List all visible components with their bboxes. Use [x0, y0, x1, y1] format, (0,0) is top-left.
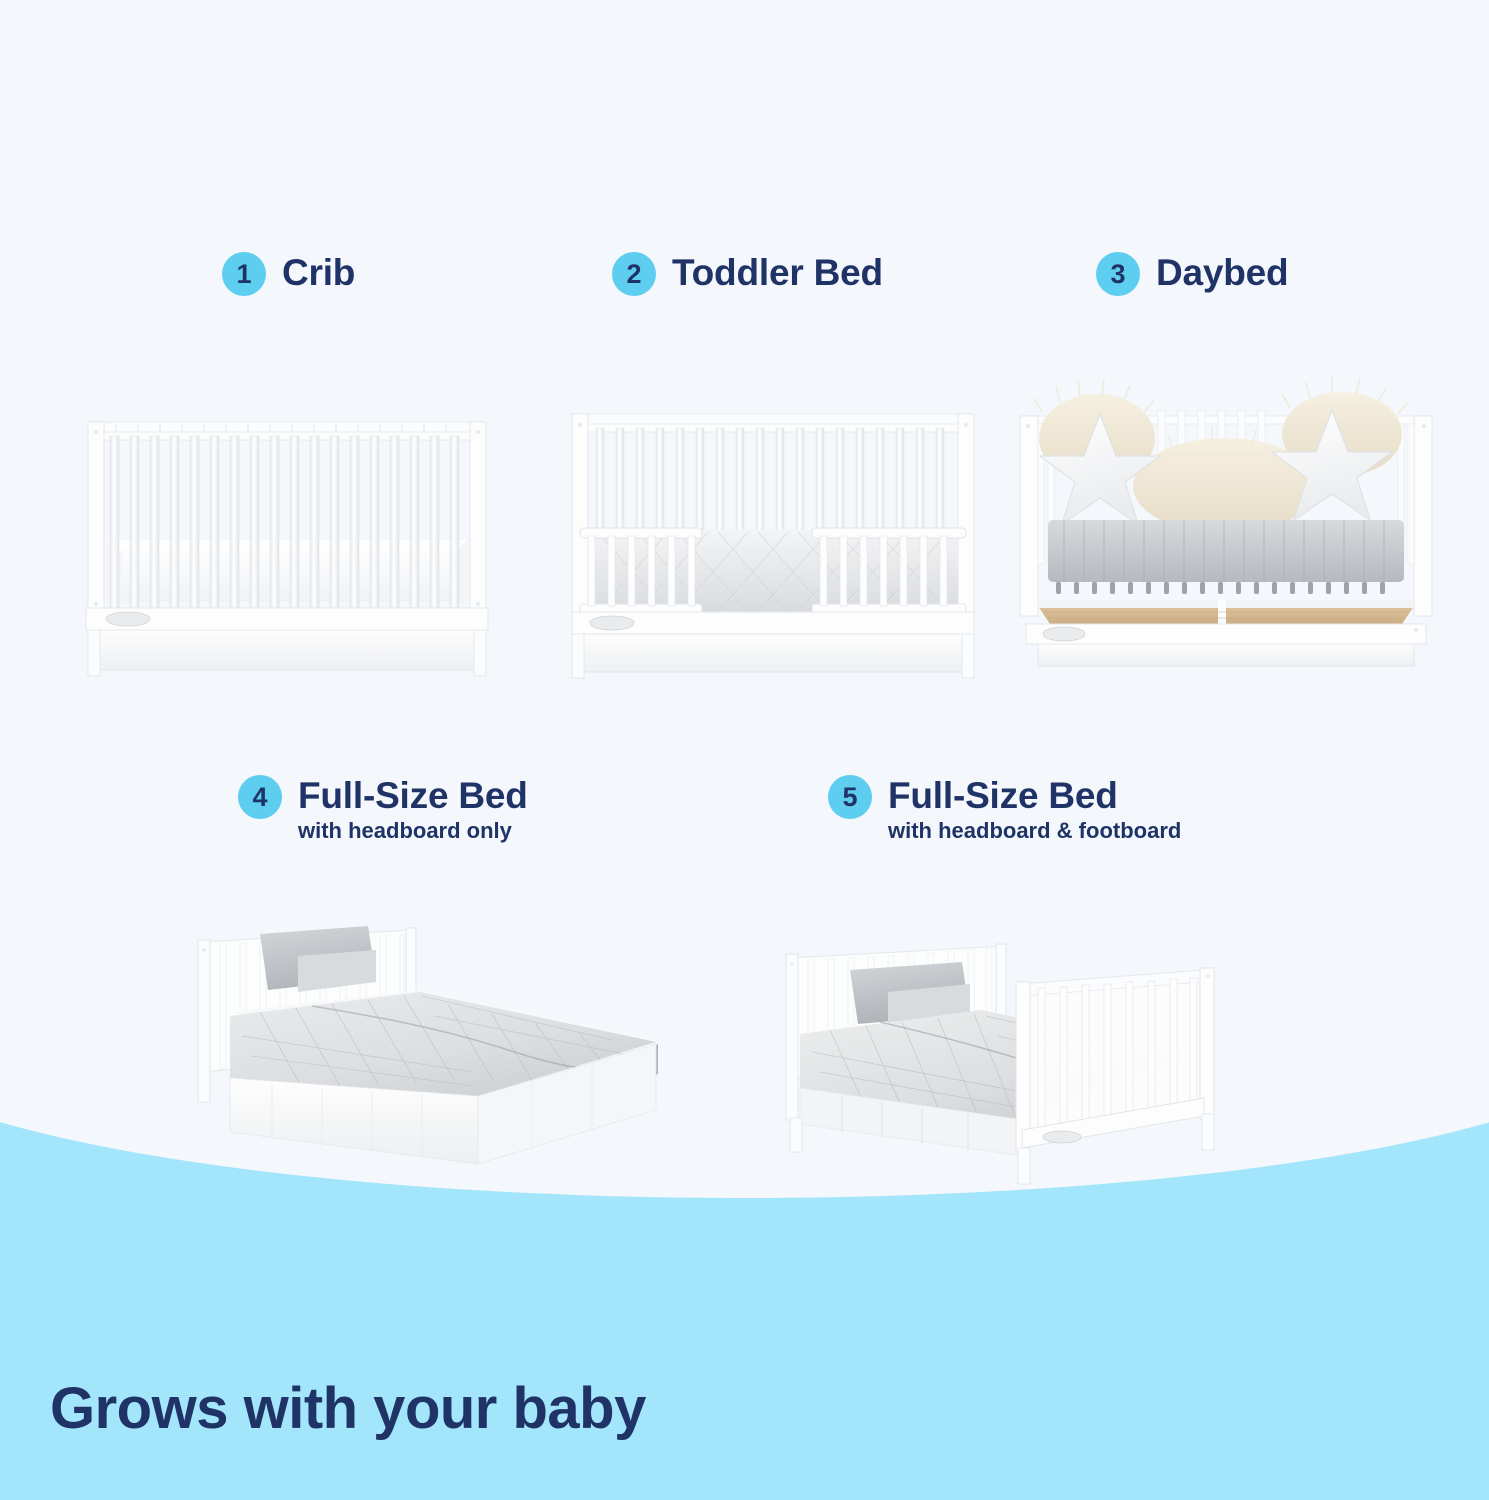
step-title-1: Crib [282, 253, 355, 292]
step-title-3: Daybed [1156, 253, 1288, 292]
step-text-1: Crib [282, 252, 355, 292]
daybed-illustration [1012, 368, 1440, 668]
step-badge-2: 2 [612, 252, 656, 296]
full-size-bed-headboard-only-illustration [172, 912, 692, 1202]
step-text-2: Toddler Bed [672, 252, 883, 292]
step-title-4: Full-Size Bed [298, 776, 528, 815]
step-label-5: 5 Full-Size Bed with headboard & footboa… [828, 775, 1181, 845]
step-label-2: 2 Toddler Bed [612, 252, 883, 296]
step-badge-5: 5 [828, 775, 872, 819]
step-label-1: 1 Crib [222, 252, 355, 296]
step-subtitle-4: with headboard only [298, 818, 528, 844]
banner-headline: Grows with your baby [50, 1375, 646, 1442]
step-label-4: 4 Full-Size Bed with headboard only [238, 775, 528, 845]
full-size-bed-headboard-footboard-illustration [772, 912, 1292, 1202]
step-text-5: Full-Size Bed with headboard & footboard [888, 775, 1181, 845]
step-title-2: Toddler Bed [672, 253, 883, 292]
step-subtitle-5: with headboard & footboard [888, 818, 1181, 844]
step-badge-3: 3 [1096, 252, 1140, 296]
step-text-3: Daybed [1156, 252, 1288, 292]
crib-illustration [72, 392, 502, 680]
step-text-4: Full-Size Bed with headboard only [298, 775, 528, 845]
step-title-5: Full-Size Bed [888, 776, 1181, 815]
step-label-3: 3 Daybed [1096, 252, 1288, 296]
step-badge-1: 1 [222, 252, 266, 296]
step-badge-4: 4 [238, 775, 282, 819]
toddler-bed-illustration [558, 392, 988, 680]
infographic-canvas: 1 Crib 2 Toddler Bed 3 Daybed 4 Full-Siz… [0, 0, 1489, 1500]
